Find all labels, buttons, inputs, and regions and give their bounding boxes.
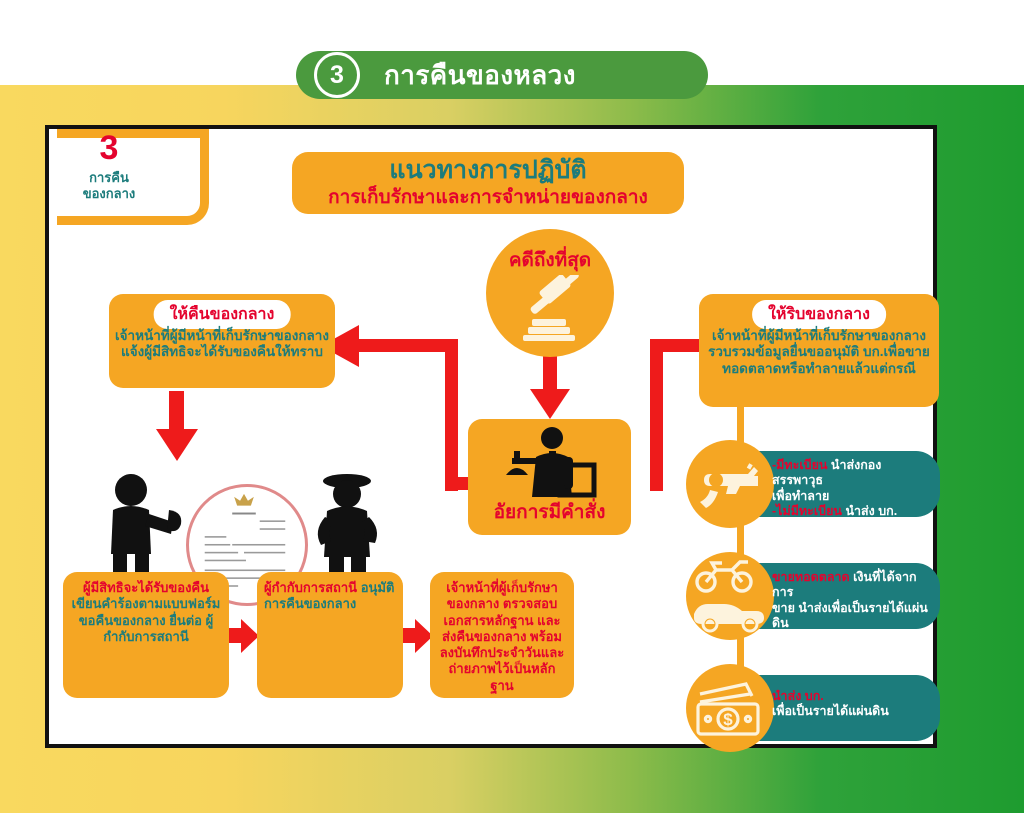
branch-right-body: เจ้าหน้าที่ผู้มีหน้าที่เก็บรักษาของกลางร… — [705, 328, 933, 377]
corner-badge-line2: ของกลาง — [49, 187, 169, 202]
main-subtitle: การเก็บรักษาและการจำหน่ายของกลาง — [328, 187, 648, 209]
process-box-officer-return: เจ้าหน้าที่ผู้เก็บรักษาของกลาง ตรวจสอบเอ… — [430, 572, 574, 698]
money-cash-icon: $ — [686, 664, 774, 752]
arrow-box2-to-box3 — [403, 616, 433, 656]
infographic-card: 3 การคืน ของกลาง แนวทางการปฏิบัติ การเก็… — [45, 125, 937, 748]
corner-badge-line1: การคืน — [49, 171, 169, 186]
process-box-2-red: ผู้กำกับการสถานี — [264, 580, 357, 595]
money-cash-icon-bg: $ — [686, 664, 774, 752]
infographic-root: 3 การคืนของหลวง 3 การคืน ของกลาง แนวทางก… — [0, 0, 1024, 813]
process-box-1-teal: เขียนคำร้องตามแบบฟอร์มขอคืนของกลาง ยื่นต… — [72, 596, 221, 644]
branch-return-evidence: ให้คืนของกลาง เจ้าหน้าที่ผู้มีหน้าที่เก็… — [109, 294, 335, 388]
right-item-weapons: -มีทะเบียน นำส่งกองสรรพาวุธ เพื่อทำลาย -… — [694, 451, 940, 517]
right-item-remit-text: นำส่ง บก. เพื่อเป็นรายได้แผ่นดิน — [772, 689, 930, 720]
branch-left-body: เจ้าหน้าที่ผู้มีหน้าที่เก็บรักษาของกลางแ… — [115, 328, 329, 361]
revolver-gun-icon-bg — [686, 440, 774, 528]
process-box-request-form: ผู้มีสิทธิจะได้รับของคืน เขียนคำร้องตามแ… — [63, 572, 229, 698]
remit-line2-white: เพื่อเป็นรายได้แผ่นดิน — [772, 704, 889, 718]
arrow-box1-to-box2 — [229, 616, 259, 656]
gavel-icon — [510, 275, 590, 341]
right-item-remit-money: $ นำส่ง บก. เพื่อเป็นรายได้แผ่นดิน — [694, 675, 940, 741]
weapons-line1-red: -มีทะเบียน — [772, 458, 827, 472]
arrow-prosecutor-to-left-branch — [317, 317, 477, 492]
main-title-pill: แนวทางการปฏิบัติ การเก็บรักษาและการจำหน่… — [292, 152, 684, 214]
revolver-gun-icon — [686, 440, 774, 528]
right-item-auction: ขายทอดตลาด เงินที่ได้จากการ ขาย นำส่งเพื… — [694, 563, 940, 629]
branch-left-title: ให้คืนของกลาง — [154, 300, 291, 329]
case-final-node: คดีถึงที่สุด — [486, 229, 614, 357]
process-box-1-red: ผู้มีสิทธิจะได้รับของคืน — [83, 580, 209, 595]
prosecutor-order-label: อัยการมีคำสั่ง — [468, 497, 631, 527]
header-banner: 3 การคืนของหลวง — [296, 51, 708, 99]
main-title: แนวทางการปฏิบัติ — [389, 157, 586, 185]
weapons-line2-white: เพื่อทำลาย — [772, 489, 829, 503]
remit-line1-red: นำส่ง บก. — [772, 689, 824, 703]
prosecutor-order-node: อัยการมีคำสั่ง — [468, 419, 631, 535]
auction-line3-white: ดิน — [772, 616, 789, 630]
arrow-left-branch-down — [154, 391, 200, 463]
case-final-label: คดีถึงที่สุด — [486, 245, 614, 275]
header-step-number: 3 — [314, 52, 360, 98]
arrow-gavel-to-prosecutor — [528, 351, 572, 423]
right-item-weapons-text: -มีทะเบียน นำส่งกองสรรพาวุธ เพื่อทำลาย -… — [772, 458, 930, 534]
process-box-3-red: เจ้าหน้าที่ผู้เก็บรักษาของกลาง ตรวจสอบเอ… — [440, 580, 565, 693]
motorcycle-car-icon — [686, 552, 774, 640]
header-title: การคืนของหลวง — [384, 55, 576, 96]
motorcycle-car-icon-bg — [686, 552, 774, 640]
weapons-line3-red: -ไม่มีทะเบียน — [772, 504, 842, 518]
weapons-line4-white: เพื่อทำลาย — [772, 519, 829, 533]
branch-forfeit-evidence: ให้ริบของกลาง เจ้าหน้าที่ผู้มีหน้าที่เก็… — [699, 294, 939, 407]
weapons-line3-white: นำส่ง บก. — [842, 504, 897, 518]
process-box-superintendent-approval: ผู้กำกับการสถานี อนุมัติการคืนของกลาง — [257, 572, 403, 698]
auction-line1-red: ขายทอดตลาด — [772, 570, 850, 584]
judge-scales-icon — [502, 427, 598, 499]
right-item-auction-text: ขายทอดตลาด เงินที่ได้จากการ ขาย นำส่งเพื… — [772, 570, 930, 631]
svg-text:$: $ — [723, 710, 733, 729]
auction-line2-white: ขาย นำส่งเพื่อเป็นรายได้แผ่น — [772, 601, 928, 615]
branch-right-title: ให้ริบของกลาง — [752, 300, 886, 329]
corner-badge-number: 3 — [49, 131, 169, 165]
